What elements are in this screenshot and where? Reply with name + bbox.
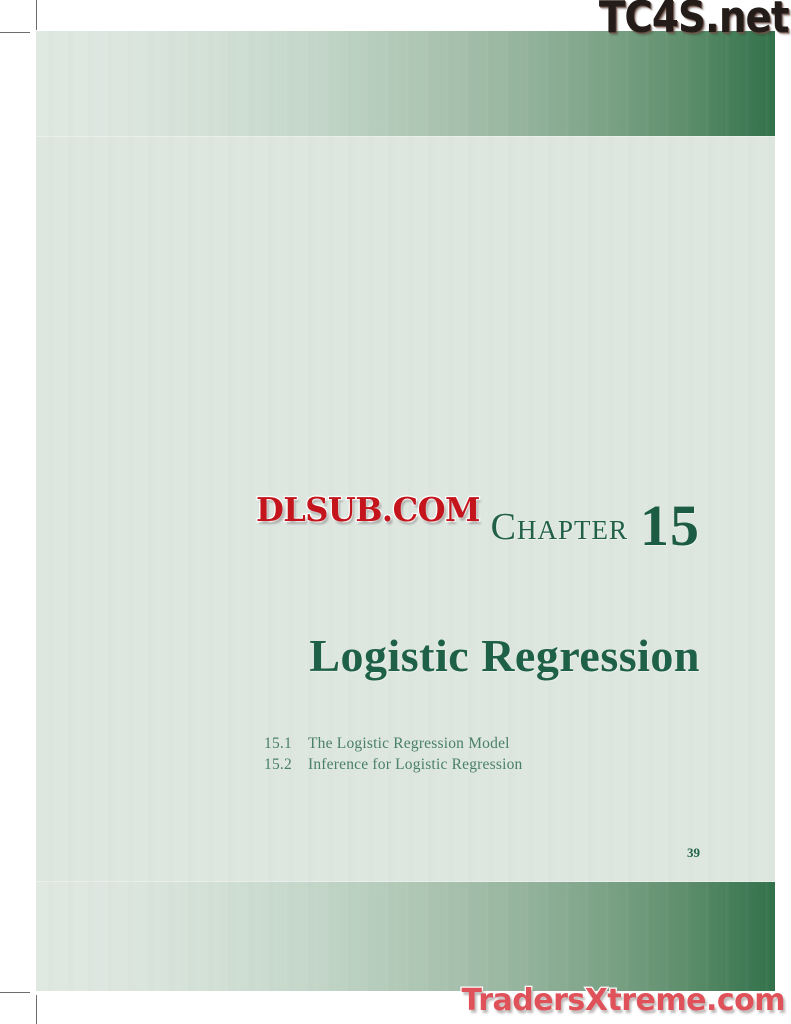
watermark-top-right: TC4S.net	[599, 0, 789, 43]
crop-mark-bottom-left-vertical	[36, 995, 37, 1024]
crop-mark-top-left-horizontal	[0, 32, 30, 33]
bottom-gradient-band	[36, 882, 775, 991]
toc-item-title: Inference for Logistic Regression	[308, 754, 522, 775]
watermark-bottom-right: TradersXtreme.com	[462, 983, 785, 1018]
table-of-contents: 15.1 The Logistic Regression Model 15.2 …	[264, 733, 522, 775]
page-number: 39	[36, 845, 700, 861]
page-title: Logistic Regression	[36, 629, 700, 682]
toc-item-number: 15.1	[264, 733, 308, 754]
crop-mark-bottom-left-horizontal	[0, 992, 30, 993]
toc-item[interactable]: 15.1 The Logistic Regression Model	[264, 733, 522, 754]
crop-mark-top-left-vertical	[36, 0, 37, 30]
watermark-center: DLSUB.COM	[256, 490, 480, 529]
top-band-seam	[36, 136, 775, 137]
toc-item-number: 15.2	[264, 754, 308, 775]
chapter-number: 15	[640, 493, 700, 558]
toc-item[interactable]: 15.2 Inference for Logistic Regression	[264, 754, 522, 775]
chapter-label: Chapter	[491, 506, 628, 548]
top-gradient-band	[36, 31, 775, 136]
toc-item-title: The Logistic Regression Model	[308, 733, 510, 754]
page-root: { "document": { "background_color": "#dd…	[0, 0, 791, 1024]
bottom-band-seam	[36, 881, 775, 882]
